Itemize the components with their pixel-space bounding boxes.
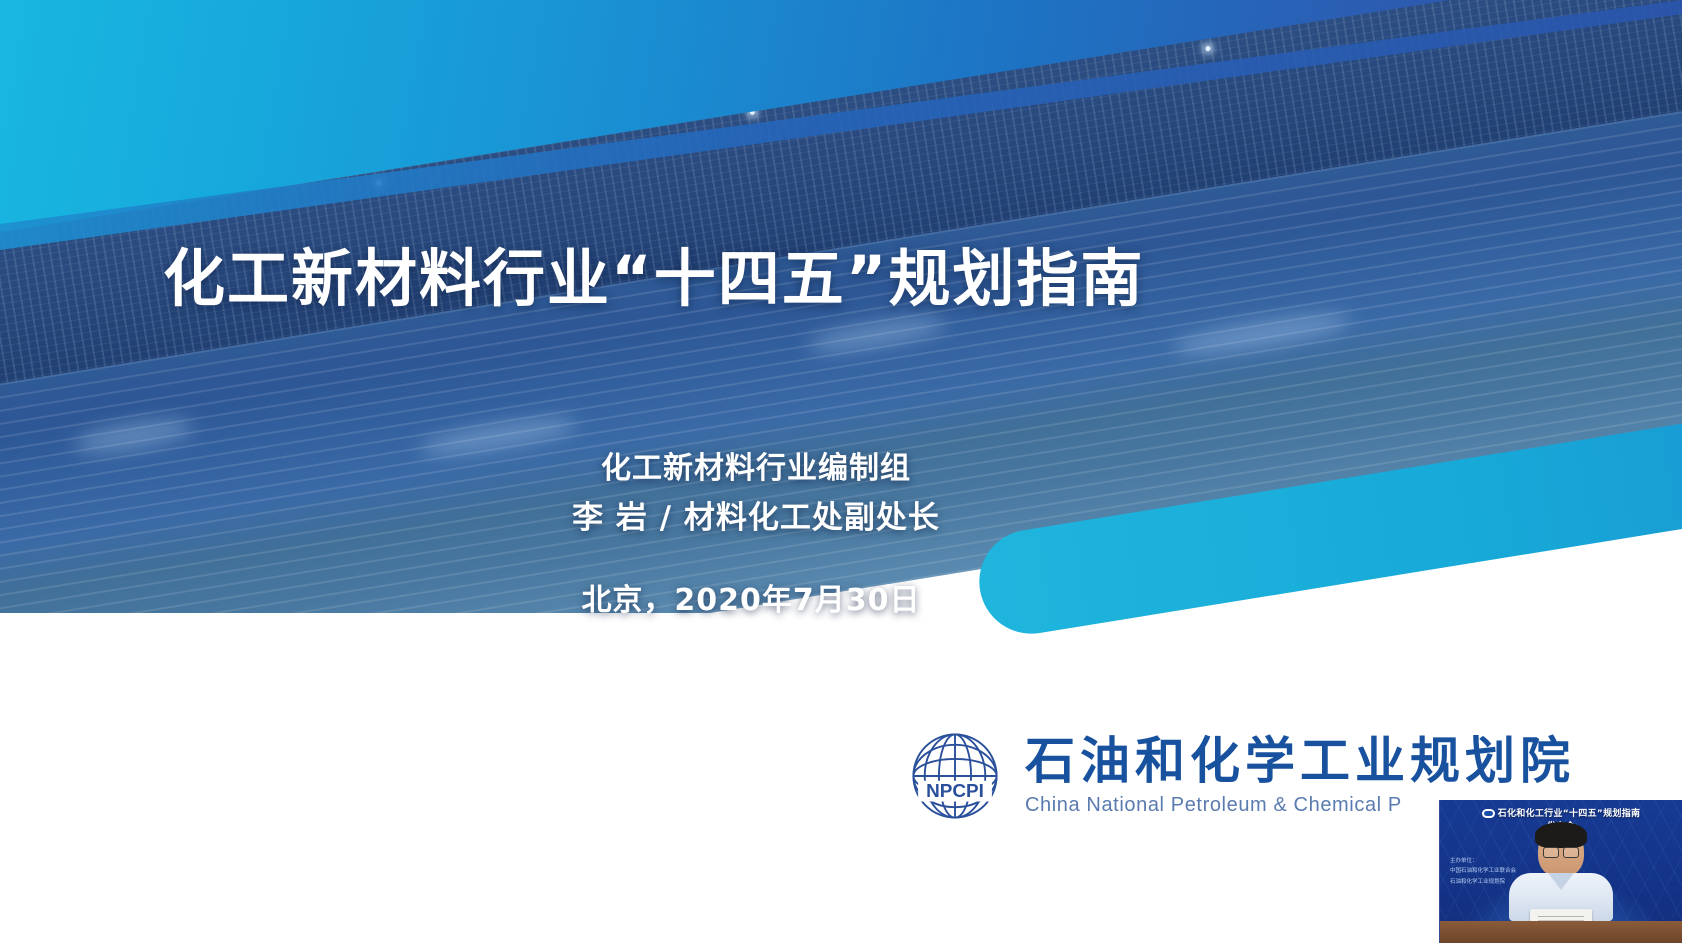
conference-badge-icon [1482,809,1495,818]
webcam-overlay[interactable]: 石化和化工行业“十四五”规划指南 发布会 主办单位： 中国石油和化学工业联合会 … [1439,800,1682,943]
subtitle-presenter-text: 李 岩 / 材料化工处副处长 [572,492,940,537]
page-title: 化工新材料行业“十四五”规划指南 [163,228,1145,318]
subtitle-organization: 化工新材料行业编制组 [0,443,1682,487]
webcam-banner-line1: 石化和化工行业“十四五”规划指南 [1498,809,1641,819]
speaker-desk [1440,921,1682,943]
subtitle-presenter: 李 岩 / 材料化工处副处长 [0,492,1682,537]
subtitle-date: 北京，2020年7月30日 [0,575,1682,619]
webcam-side-note: 主办单位： 中国石油和化学工业联合会 石油和化学工业规划院 [1450,856,1516,887]
speaker-collar [1548,873,1574,890]
logo-name-cn: 石油和化学工业规划院 [1025,735,1575,788]
webcam-side-note-line2: 中国石油和化学工业联合会 [1450,866,1516,876]
webcam-side-note-line3: 石油和化学工业规划院 [1450,877,1516,887]
globe-icon: NPCPI [903,724,1007,828]
subtitle-date-text: 北京，2020年7月30日 [581,575,920,619]
webcam-side-note-line1: 主办单位： [1450,856,1516,866]
subtitle-organization-text: 化工新材料行业编制组 [601,443,911,487]
speaker-hair [1535,822,1587,848]
presentation-slide: 化工新材料行业“十四五”规划指南 化工新材料行业编制组 李 岩 / 材料化工处副… [0,0,1682,943]
speaker-head [1538,827,1584,877]
glasses-icon [1543,847,1579,856]
npcpi-acronym: NPCPI [926,781,984,802]
webcam-speaker [1509,827,1613,921]
